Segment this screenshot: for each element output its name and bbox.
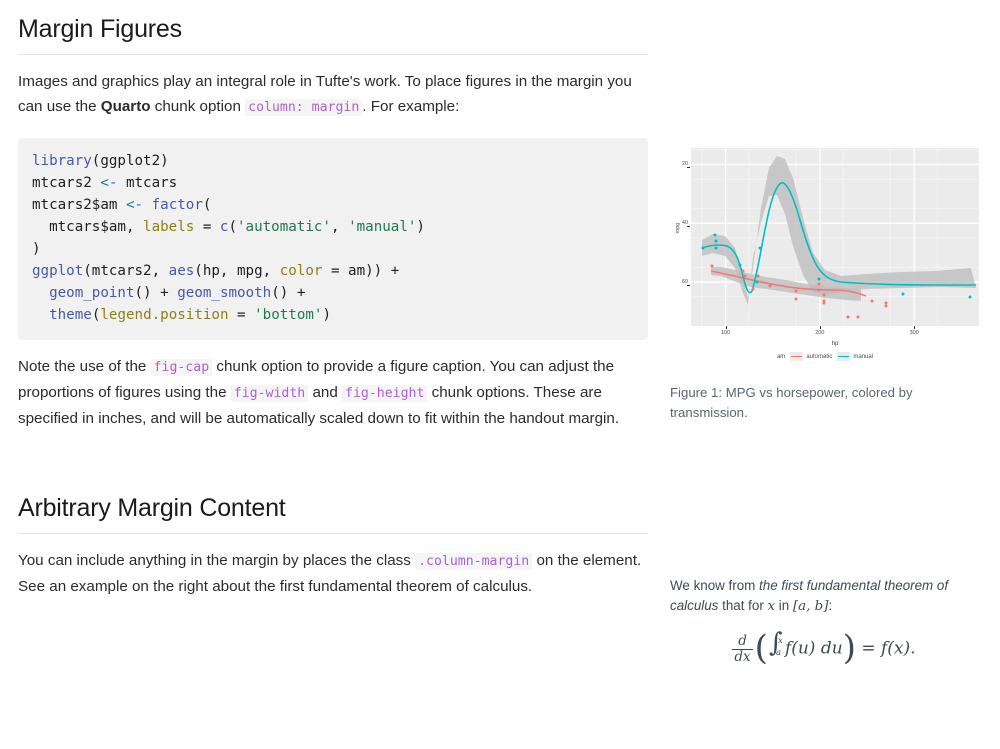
math-derivative-fraction: d dx bbox=[732, 634, 752, 663]
code-line: ) bbox=[32, 241, 41, 257]
math-equals-sign: = bbox=[861, 639, 875, 659]
chart-legend-label-manual: manual bbox=[853, 354, 873, 360]
code-token-plain: ( bbox=[228, 219, 237, 235]
legend-swatch-manual-icon bbox=[837, 352, 850, 361]
code-token-fn: geom_point bbox=[49, 285, 134, 301]
chart-major-gridlines bbox=[691, 148, 979, 326]
chart-xtickmark-300 bbox=[914, 326, 915, 329]
code-token-plain: mtcars bbox=[117, 175, 177, 191]
math-integral-sign-icon: ∫xa bbox=[768, 634, 785, 664]
inline-code-fig-height: fig-height bbox=[342, 385, 427, 402]
math-right-hand-side: f(x). bbox=[881, 639, 916, 659]
code-token-fn: library bbox=[32, 153, 92, 169]
math-open-paren: ( bbox=[755, 635, 768, 663]
code-token-plain: mtcars2 bbox=[32, 175, 100, 191]
tufte-handout-page: Margin Figures Images and graphics play … bbox=[0, 0, 1000, 749]
quarto-emphasis: Quarto bbox=[101, 98, 151, 115]
math-frac-denominator: dx bbox=[732, 649, 752, 664]
chart-ci-band-manual bbox=[702, 156, 976, 305]
code-token-fn: theme bbox=[49, 307, 92, 323]
code-block-ggplot: library(ggplot2) mtcars2 <- mtcars mtcar… bbox=[18, 138, 648, 340]
code-token-arg: labels bbox=[143, 219, 194, 235]
section-divider bbox=[18, 54, 648, 55]
chart-panel bbox=[691, 148, 979, 326]
math-integral-lower-limit: a bbox=[776, 643, 781, 663]
margin-note-interval: [a, b] bbox=[793, 599, 829, 614]
figcap-text-part1: Note the use of the bbox=[18, 358, 151, 375]
math-integrand: f(u) du bbox=[785, 639, 843, 659]
code-line: ggplot(mtcars2, aes(hp, mpg, color = am)… bbox=[32, 263, 399, 279]
chart-legend-item-manual[interactable]: manual bbox=[837, 352, 873, 361]
chart-y-axis-title: mpg bbox=[675, 208, 681, 248]
chart-xtick-100: 100 bbox=[721, 330, 730, 336]
code-token-fn: ggplot bbox=[32, 263, 83, 279]
margin-note-var-x: x bbox=[768, 599, 776, 614]
code-token-fn: factor bbox=[152, 197, 203, 213]
code-token-str: 'bottom' bbox=[254, 307, 322, 323]
code-token-plain: ( bbox=[203, 197, 212, 213]
page-title: Margin Figures bbox=[18, 0, 648, 44]
intro-text-part3: . For example: bbox=[362, 98, 459, 115]
chart-xtickmark-100 bbox=[726, 326, 727, 329]
code-token-plain: , bbox=[331, 219, 348, 235]
chart-xtick-300: 300 bbox=[910, 330, 919, 336]
code-line: mtcars2 <- mtcars bbox=[32, 175, 177, 191]
figcap-paragraph: Note the use of the fig-cap chunk option… bbox=[18, 354, 648, 431]
chart-legend-label-automatic: automatic bbox=[806, 354, 832, 360]
code-token-plain: (ggplot2) bbox=[92, 153, 169, 169]
code-token-plain: mtcars$am, bbox=[32, 219, 143, 235]
section-title-arbitrary-margin-content: Arbitrary Margin Content bbox=[18, 479, 648, 523]
math-close-paren: ) bbox=[843, 635, 856, 663]
code-line: theme(legend.position = 'bottom') bbox=[32, 307, 331, 323]
chart-ytickmark-40 bbox=[687, 226, 690, 227]
code-line: mtcars$am, labels = c('automatic', 'manu… bbox=[32, 219, 425, 235]
chart-legend: am automatic manual bbox=[670, 352, 980, 361]
chart-ytickmark-60 bbox=[687, 285, 690, 286]
code-token-plain: ) bbox=[322, 307, 331, 323]
margin-note-text-part2: that for bbox=[718, 598, 767, 613]
margin-note-text-part4: : bbox=[828, 598, 832, 613]
figure-caption: Figure 1: MPG vs horsepower, colored by … bbox=[670, 383, 940, 423]
inline-code-column-margin-class: .column-margin bbox=[415, 553, 532, 570]
code-token-plain: = am)) + bbox=[322, 263, 399, 279]
code-token-plain: () + bbox=[135, 285, 178, 301]
code-token-plain bbox=[32, 307, 49, 323]
legend-swatch-automatic-icon bbox=[790, 352, 803, 361]
code-token-plain: (mtcars2, bbox=[83, 263, 168, 279]
chart-legend-item-automatic[interactable]: automatic bbox=[790, 352, 832, 361]
code-token-str: 'automatic' bbox=[237, 219, 331, 235]
chart-x-axis-title: hp bbox=[691, 341, 979, 347]
code-token-plain bbox=[143, 197, 152, 213]
intro-paragraph: Images and graphics play an integral rol… bbox=[18, 69, 648, 120]
arbitrary-text-part1: You can include anything in the margin b… bbox=[18, 552, 415, 569]
intro-text-part2: chunk option bbox=[151, 98, 246, 115]
code-token-fn: aes bbox=[169, 263, 195, 279]
inline-code-fig-width: fig-width bbox=[231, 385, 308, 402]
math-frac-numerator: d bbox=[732, 634, 752, 648]
chart-xtickmark-200 bbox=[820, 326, 821, 329]
code-token-plain bbox=[32, 285, 49, 301]
section-divider-2 bbox=[18, 533, 648, 534]
margin-figure-1: 60 40 20 mpg 100 200 300 hp am bbox=[670, 145, 988, 423]
code-token-plain: ) bbox=[416, 219, 425, 235]
code-token-plain: (hp, mpg, bbox=[194, 263, 279, 279]
code-token-plain: ) bbox=[32, 241, 41, 257]
figcap-text-part3: and bbox=[308, 384, 342, 401]
margin-note-text-part3: in bbox=[775, 598, 793, 613]
chart-plot-svg bbox=[691, 148, 979, 326]
ggplot-chart-mpg-vs-hp: 60 40 20 mpg 100 200 300 hp am bbox=[670, 145, 980, 370]
arbitrary-margin-paragraph: You can include anything in the margin b… bbox=[18, 548, 648, 599]
code-line: mtcars2$am <- factor( bbox=[32, 197, 211, 213]
code-token-str: 'manual' bbox=[348, 219, 416, 235]
code-token-plain: = bbox=[194, 219, 220, 235]
math-formula-ftc: d dx (∫xaf(u) du) = f(x). bbox=[670, 634, 976, 664]
body-column: Margin Figures Images and graphics play … bbox=[18, 0, 648, 599]
chart-minor-gridlines bbox=[691, 148, 979, 326]
code-line: library(ggplot2) bbox=[32, 153, 169, 169]
code-token-plain: mtcars2$am bbox=[32, 197, 126, 213]
margin-note-text-part1: We know from bbox=[670, 578, 759, 593]
code-token-arg: legend.position bbox=[100, 307, 228, 323]
margin-note-calculus: We know from the first fundamental theor… bbox=[670, 576, 976, 664]
code-token-plain: = bbox=[228, 307, 254, 323]
code-token-op: <- bbox=[126, 197, 143, 213]
code-token-fn: geom_smooth bbox=[177, 285, 271, 301]
inline-code-column-margin: column: margin bbox=[245, 99, 362, 116]
chart-ytickmark-20 bbox=[687, 167, 690, 168]
chart-xtick-200: 200 bbox=[815, 330, 824, 336]
code-line: geom_point() + geom_smooth() + bbox=[32, 285, 305, 301]
inline-code-fig-cap: fig-cap bbox=[151, 359, 213, 376]
chart-legend-title: am bbox=[777, 354, 785, 360]
code-token-arg: color bbox=[280, 263, 323, 279]
code-token-op: <- bbox=[100, 175, 117, 191]
code-token-plain: () + bbox=[271, 285, 305, 301]
